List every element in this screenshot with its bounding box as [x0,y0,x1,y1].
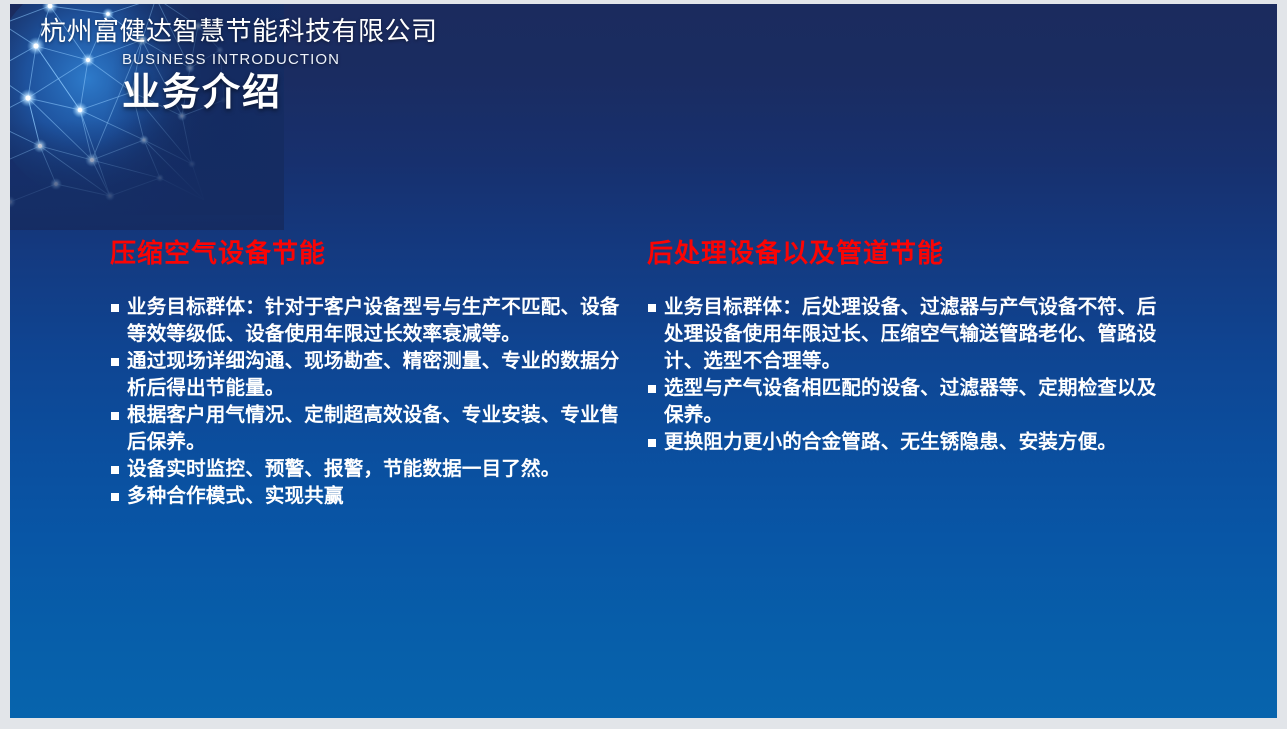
company-name: 杭州富健达智慧节能科技有限公司 [40,15,940,47]
list-item: 根据客户用气情况、定制超高效设备、专业安装、专业售后保养。 [110,402,630,456]
page-border-right [1277,0,1287,729]
bullet-list: 业务目标群体：针对于客户设备型号与生产不匹配、设备等效等级低、设备使用年限过长效… [110,294,630,510]
list-item: 选型与产气设备相匹配的设备、过滤器等、定期检查以及保养。 [647,375,1167,429]
list-item: 设备实时监控、预警、报警，节能数据一目了然。 [110,456,630,483]
slide-eyebrow-label: BUSINESS INTRODUCTION [122,51,940,69]
list-item-text: 更换阻力更小的合金管路、无生锈隐患、安装方便。 [664,431,1117,453]
list-item-text: 根据客户用气情况、定制超高效设备、专业安装、专业售后保养。 [127,404,620,453]
column-title: 压缩空气设备节能 [110,236,630,270]
list-item-text: 业务目标群体：针对于客户设备型号与生产不匹配、设备等效等级低、设备使用年限过长效… [127,296,620,345]
list-item: 多种合作模式、实现共赢 [110,483,630,510]
page-border-left [0,0,10,729]
square-bullet-icon [111,304,119,312]
square-bullet-icon [111,358,119,366]
bullet-list: 业务目标群体：后处理设备、过滤器与产气设备不符、后处理设备使用年限过长、压缩空气… [647,294,1167,456]
list-item-text: 设备实时监控、预警、报警，节能数据一目了然。 [127,458,560,480]
square-bullet-icon [111,466,119,474]
content-column-right: 后处理设备以及管道节能 业务目标群体：后处理设备、过滤器与产气设备不符、后处理设… [647,236,1167,456]
slide-header: 杭州富健达智慧节能科技有限公司 BUSINESS INTRODUCTION 业务… [40,15,940,115]
list-item: 更换阻力更小的合金管路、无生锈隐患、安装方便。 [647,429,1167,456]
page-border-top [0,0,1287,4]
square-bullet-icon [648,439,656,447]
list-item: 业务目标群体：后处理设备、过滤器与产气设备不符、后处理设备使用年限过长、压缩空气… [647,294,1167,375]
list-item-text: 多种合作模式、实现共赢 [127,485,344,507]
presentation-slide: 杭州富健达智慧节能科技有限公司 BUSINESS INTRODUCTION 业务… [0,0,1287,729]
list-item-text: 选型与产气设备相匹配的设备、过滤器等、定期检查以及保养。 [664,377,1157,426]
square-bullet-icon [648,385,656,393]
content-column-left: 压缩空气设备节能 业务目标群体：针对于客户设备型号与生产不匹配、设备等效等级低、… [110,236,630,510]
list-item: 业务目标群体：针对于客户设备型号与生产不匹配、设备等效等级低、设备使用年限过长效… [110,294,630,348]
slide-canvas: 杭州富健达智慧节能科技有限公司 BUSINESS INTRODUCTION 业务… [10,4,1277,718]
list-item: 通过现场详细沟通、现场勘查、精密测量、专业的数据分析后得出节能量。 [110,348,630,402]
square-bullet-icon [111,412,119,420]
list-item-text: 业务目标群体：后处理设备、过滤器与产气设备不符、后处理设备使用年限过长、压缩空气… [664,296,1157,372]
column-title: 后处理设备以及管道节能 [647,236,1167,270]
slide-title: 业务介绍 [122,71,940,115]
square-bullet-icon [111,493,119,501]
square-bullet-icon [648,304,656,312]
page-border-bottom [0,718,1287,729]
list-item-text: 通过现场详细沟通、现场勘查、精密测量、专业的数据分析后得出节能量。 [127,350,620,399]
